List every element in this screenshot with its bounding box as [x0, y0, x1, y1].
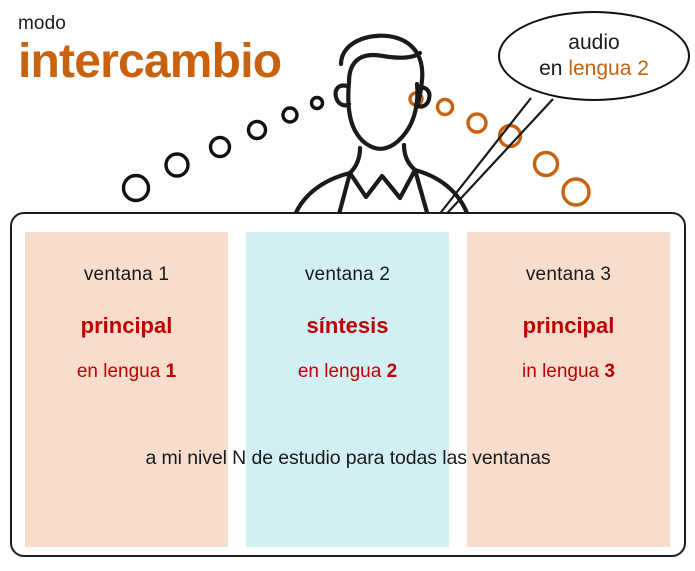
right-dots-group [410, 93, 589, 205]
header-block: modo intercambio [18, 14, 348, 88]
window-1-lang-prefix: en lengua [77, 361, 166, 382]
windows-columns-row: ventana 1 principal en lengua 1 ventana … [25, 232, 670, 547]
window-1-language: en lengua 1 [25, 361, 228, 384]
dot-black-2 [166, 154, 188, 176]
window-1-title: ventana 1 [25, 264, 228, 287]
left-dots-group [124, 98, 323, 201]
window-2-title: ventana 2 [246, 264, 449, 287]
dot-orange-5 [535, 153, 558, 176]
bubble-line-lengua: en lengua 2 [539, 57, 649, 81]
window-1-lang-number: 1 [166, 361, 177, 382]
dot-orange-4 [500, 126, 521, 147]
window-2-lang-number: 2 [387, 361, 398, 382]
speech-bubble-text: audio en lengua 2 [498, 11, 690, 101]
window-column-3[interactable]: ventana 3 principal in lengua 3 [467, 232, 670, 547]
dot-orange-1 [410, 93, 422, 105]
window-2-lang-prefix: en lengua [298, 361, 387, 382]
dot-black-6 [312, 98, 323, 109]
dot-black-1 [124, 176, 149, 201]
window-column-2[interactable]: ventana 2 síntesis en lengua 2 [246, 232, 449, 547]
window-3-language: in lengua 3 [467, 361, 670, 384]
dot-orange-3 [468, 114, 486, 132]
modo-kicker-label: modo [18, 14, 348, 34]
window-column-1[interactable]: ventana 1 principal en lengua 1 [25, 232, 228, 547]
window-3-lang-number: 3 [604, 361, 615, 382]
window-2-language: en lengua 2 [246, 361, 449, 384]
bubble-highlight: lengua 2 [568, 57, 649, 80]
bubble-prefix: en [539, 57, 568, 80]
page-title: intercambio [18, 36, 348, 88]
window-3-lang-prefix: in lengua [522, 361, 604, 382]
window-3-title: ventana 3 [467, 264, 670, 287]
bubble-line-audio: audio [568, 31, 619, 55]
windows-panel: ventana 1 principal en lengua 1 ventana … [10, 212, 686, 557]
window-3-role: principal [467, 313, 670, 339]
window-2-role: síntesis [246, 313, 449, 339]
dot-black-4 [249, 122, 266, 139]
dot-orange-2 [438, 100, 453, 115]
window-1-role: principal [25, 313, 228, 339]
dot-black-3 [211, 138, 230, 157]
dot-black-5 [283, 108, 297, 122]
audio-speech-bubble: audio en lengua 2 [498, 11, 690, 101]
dot-orange-6 [563, 179, 589, 205]
